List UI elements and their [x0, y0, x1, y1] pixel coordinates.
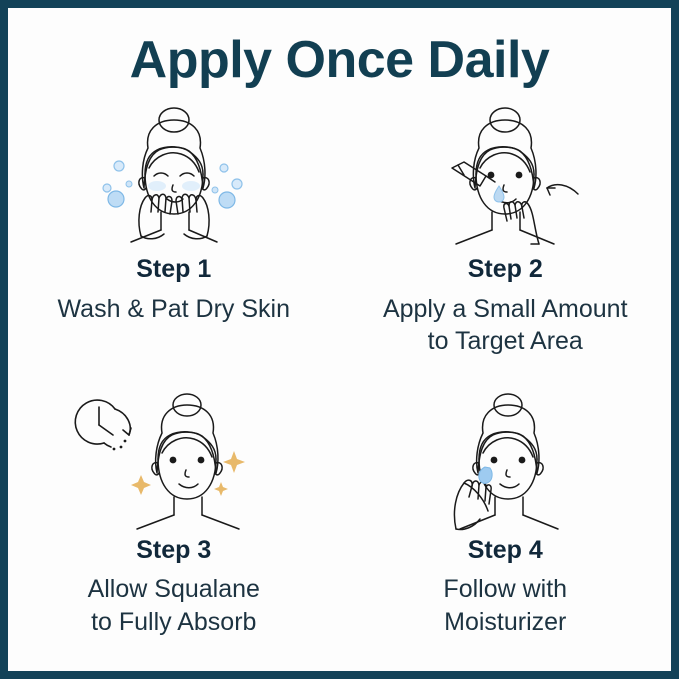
step-label-2: Step 2 [468, 256, 543, 284]
page-title: Apply Once Daily [130, 34, 550, 86]
woman-applying-serum-dropper-icon [400, 102, 610, 254]
step-desc-line2: to Target Area [383, 325, 628, 358]
sparkle-group [131, 451, 245, 496]
step-label-3: Step 3 [136, 537, 211, 565]
step-desc-2: Apply a Small Amount to Target Area [383, 293, 628, 358]
step-desc-4: Follow with Moisturizer [443, 573, 567, 638]
instruction-poster: Apply Once Daily [0, 0, 679, 679]
woman-applying-moisturizer-icon [400, 387, 610, 537]
step-desc-line1: Wash & Pat Dry Skin [58, 295, 290, 323]
direction-arrow-icon [547, 185, 578, 195]
step-card-4: Step 4 Follow with Moisturizer [340, 387, 672, 672]
step-card-3: Step 3 Allow Squalane to Fully Absorb [8, 387, 340, 672]
step-card-2: Step 2 Apply a Small Amount to Target Ar… [340, 102, 672, 387]
step-desc-line1: Follow with [443, 575, 567, 603]
woman-washing-face-with-bubbles-icon [69, 102, 279, 254]
step-desc-line1: Apply a Small Amount [383, 295, 628, 323]
step-card-1: Step 1 Wash & Pat Dry Skin [8, 102, 340, 387]
step-desc-line1: Allow Squalane [88, 575, 260, 603]
step-desc-line2: to Fully Absorb [88, 606, 260, 639]
step-desc-1: Wash & Pat Dry Skin [58, 293, 290, 326]
step-label-4: Step 4 [468, 537, 543, 565]
step-desc-line2: Moisturizer [443, 606, 567, 639]
woman-with-clock-and-sparkles-icon [69, 387, 279, 537]
moisturizer-blob-icon [479, 467, 492, 483]
steps-grid: Step 1 Wash & Pat Dry Skin [8, 102, 671, 671]
clock-icon [75, 400, 131, 447]
step-desc-3: Allow Squalane to Fully Absorb [88, 573, 260, 638]
step-label-1: Step 1 [136, 256, 211, 284]
poster-inner: Apply Once Daily [8, 8, 671, 671]
